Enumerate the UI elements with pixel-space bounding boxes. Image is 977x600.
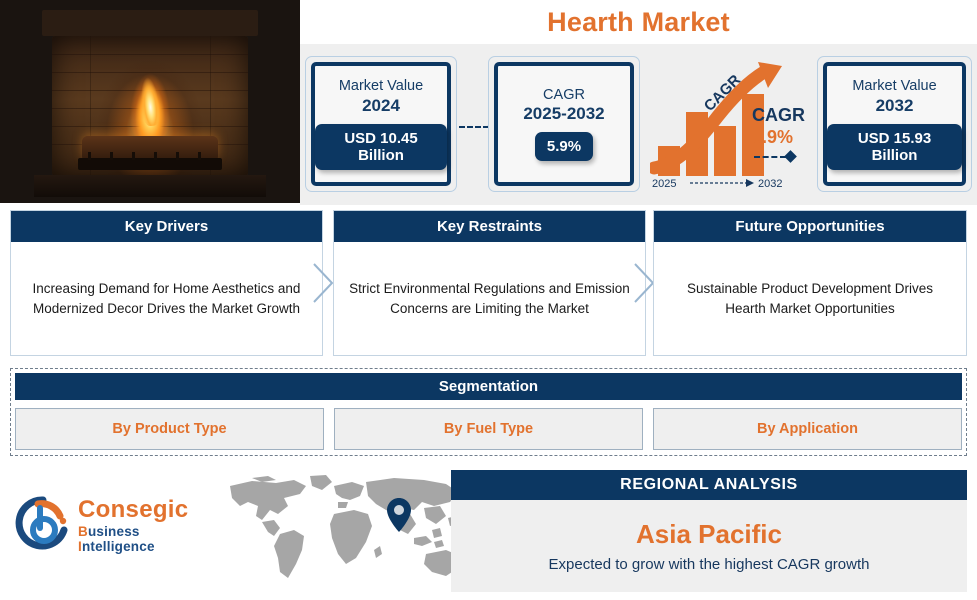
- cagr-value: 5.9%: [752, 127, 793, 148]
- stat-year: 2024: [362, 96, 400, 116]
- company-logo[interactable]: Consegic Business Intelligence: [14, 490, 214, 560]
- top-section: Hearth Market Market Value 2024 USD 10.4…: [0, 0, 977, 205]
- region-name: Asia Pacific: [636, 519, 782, 550]
- segmentation-item-fuel-type[interactable]: By Fuel Type: [334, 408, 643, 450]
- stat-card-market-value-2032[interactable]: Market Value 2032 USD 15.93 Billion: [817, 56, 972, 192]
- regional-analysis-body: Asia Pacific Expected to grow with the h…: [451, 500, 967, 592]
- consegic-logo-icon: [14, 494, 72, 552]
- stat-year: 2025-2032: [523, 104, 604, 124]
- segmentation-item-product-type[interactable]: By Product Type: [15, 408, 324, 450]
- panel-text: Increasing Demand for Home Aesthetics an…: [11, 242, 322, 355]
- fireplace-mantel: [42, 10, 258, 36]
- stat-card-cagr[interactable]: CAGR 2025-2032 5.9%: [488, 56, 640, 192]
- region-subtitle: Expected to grow with the highest CAGR g…: [549, 556, 870, 573]
- stat-value-pill: USD 15.93 Billion: [827, 124, 962, 170]
- chart-axis-end: 2032: [758, 178, 782, 190]
- panel-key-restraints[interactable]: Key Restraints Strict Environmental Regu…: [333, 210, 646, 356]
- panel-text: Sustainable Product Development Drives H…: [654, 242, 966, 355]
- panel-text: Strict Environmental Regulations and Emi…: [334, 242, 645, 355]
- footer-section: Consegic Business Intelligence: [0, 462, 977, 600]
- infographic-root: Hearth Market Market Value 2024 USD 10.4…: [0, 0, 977, 600]
- stat-value-pill: 5.9%: [535, 132, 593, 161]
- stat-year: 2032: [876, 96, 914, 116]
- regional-analysis-title: REGIONAL ANALYSIS: [451, 470, 967, 500]
- fireplace-grate: [78, 158, 222, 170]
- logo-tagline-rest1: usiness: [88, 524, 140, 539]
- chart-axis-start: 2025: [652, 178, 676, 190]
- segmentation-title: Segmentation: [15, 373, 962, 400]
- fireplace-photo: [0, 0, 300, 203]
- page-title: Hearth Market: [300, 0, 977, 44]
- world-map: [218, 472, 473, 590]
- panel-title: Future Opportunities: [654, 211, 966, 242]
- stat-label: Market Value: [852, 78, 936, 94]
- segmentation-items: By Product Type By Fuel Type By Applicat…: [15, 408, 962, 450]
- logo-tagline: Business Intelligence: [78, 524, 214, 554]
- stat-value-pill: USD 10.45 Billion: [315, 124, 447, 170]
- logo-name: Consegic: [78, 496, 188, 524]
- chevron-right-icon-2: [633, 262, 655, 304]
- regional-analysis-box: REGIONAL ANALYSIS Asia Pacific Expected …: [451, 470, 967, 592]
- logo-tagline-b: B: [78, 524, 88, 539]
- panel-future-opportunities[interactable]: Future Opportunities Sustainable Product…: [653, 210, 967, 356]
- panel-key-drivers[interactable]: Key Drivers Increasing Demand for Home A…: [10, 210, 323, 356]
- segmentation-section: Segmentation By Product Type By Fuel Typ…: [10, 368, 967, 456]
- panel-title: Key Drivers: [11, 211, 322, 242]
- cagr-title: CAGR: [752, 105, 805, 126]
- stat-label: CAGR: [543, 87, 585, 103]
- fireplace-opening: [52, 36, 248, 176]
- stat-label: Market Value: [339, 78, 423, 94]
- chevron-right-icon-1: [312, 262, 334, 304]
- key-panels-section: Key Drivers Increasing Demand for Home A…: [0, 210, 977, 358]
- logo-tagline-rest2: ntelligence: [82, 539, 155, 554]
- stat-card-market-value-2024[interactable]: Market Value 2024 USD 10.45 Billion: [305, 56, 457, 192]
- panel-title: Key Restraints: [334, 211, 645, 242]
- hearth-floor: [34, 175, 266, 197]
- segmentation-item-application[interactable]: By Application: [653, 408, 962, 450]
- connector-dashed-2: [754, 152, 802, 162]
